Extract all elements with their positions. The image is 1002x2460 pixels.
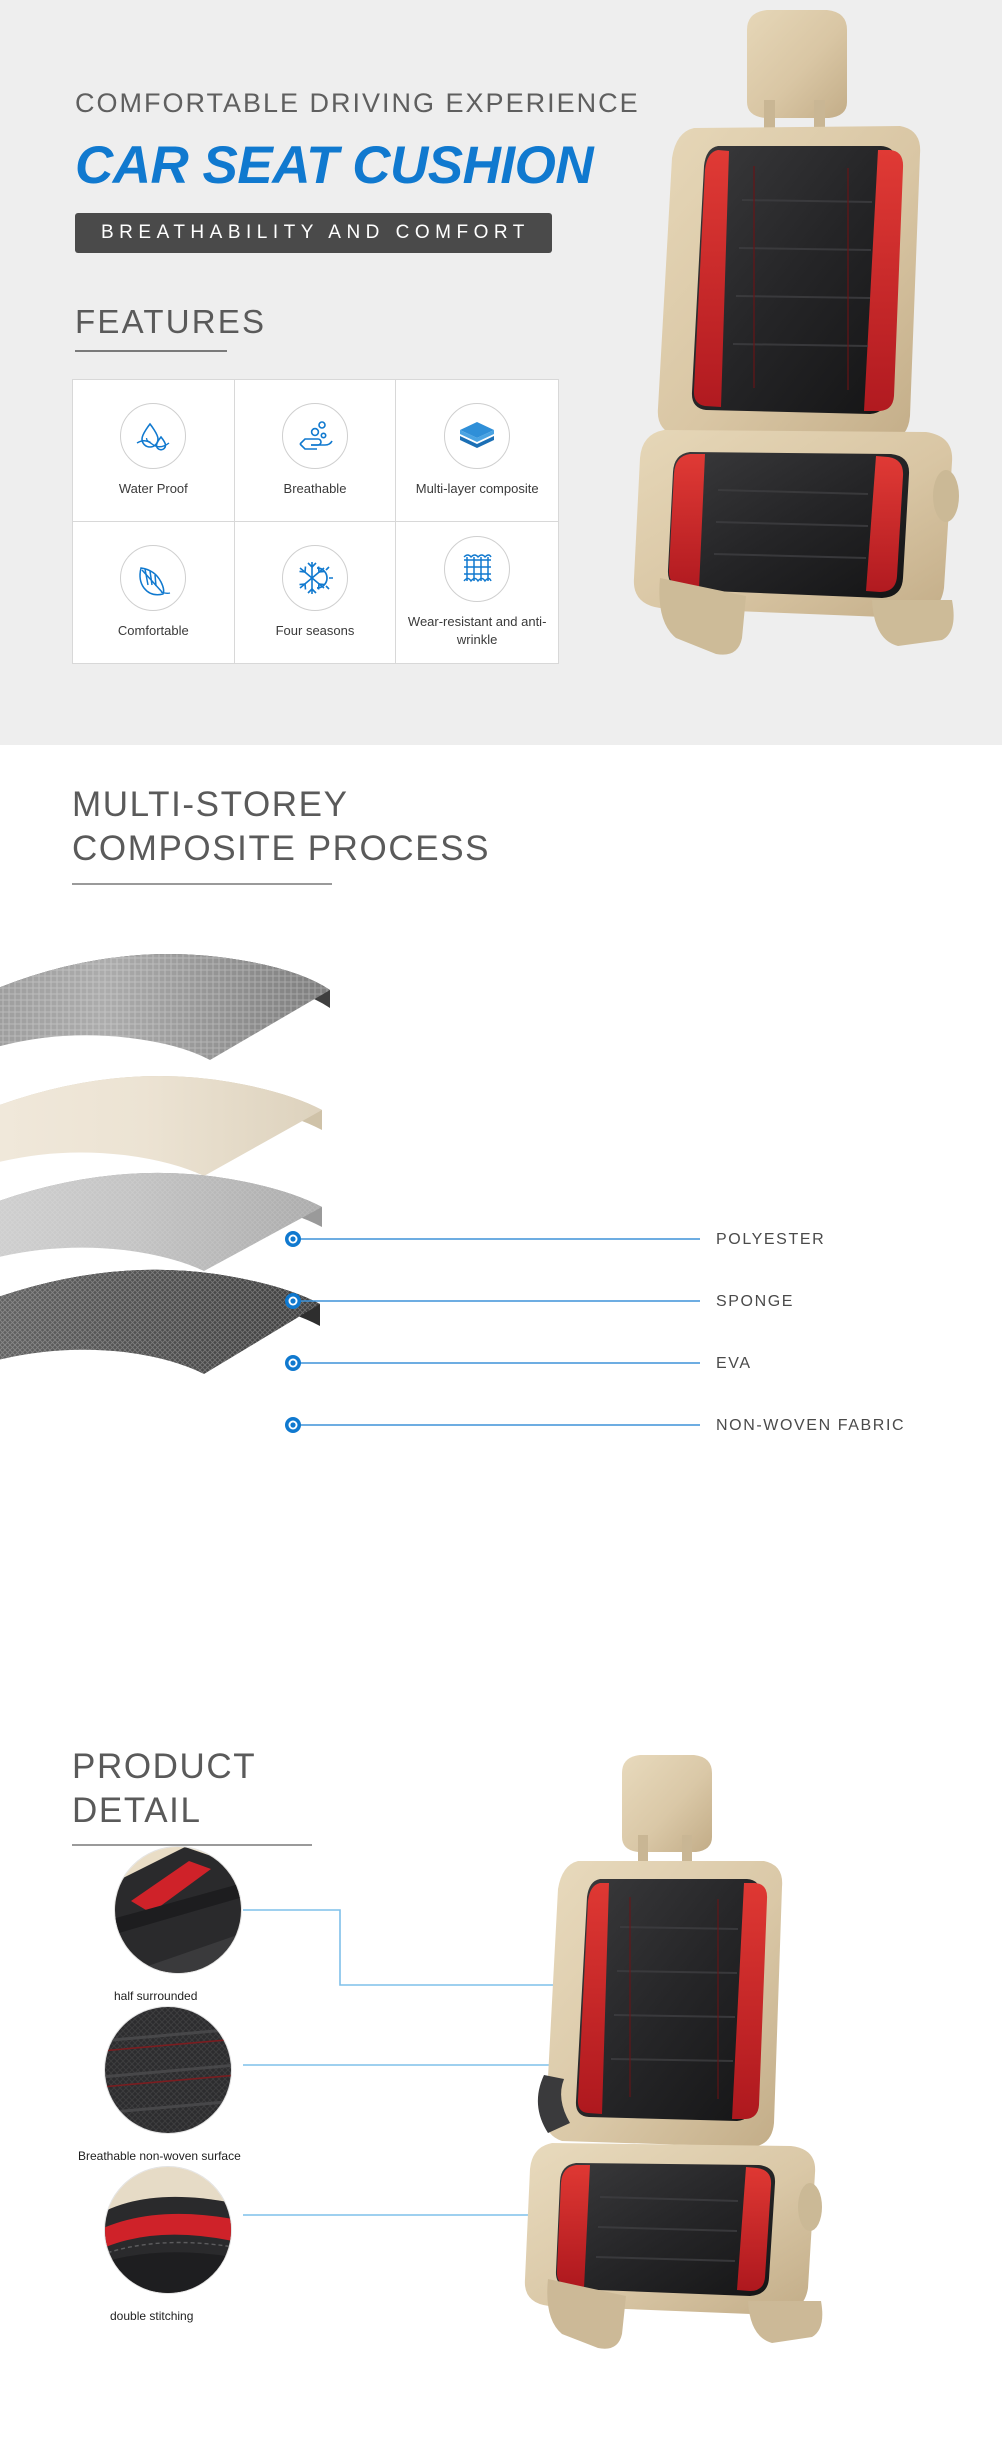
- feature-cell-comfortable[interactable]: Comfortable: [73, 522, 235, 664]
- feature-cell-breathable[interactable]: Breathable: [235, 380, 397, 522]
- layer-connectors: [0, 745, 1002, 1715]
- hero-badge: BREATHABILITY AND COMFORT: [75, 213, 552, 253]
- composite-section: MULTI-STOREY COMPOSITE PROCESS: [0, 745, 1002, 1715]
- mesh-grid-icon: [444, 536, 510, 602]
- detail-thumb-non-woven-surface[interactable]: [104, 2006, 232, 2134]
- features-heading: FEATURES: [75, 303, 266, 341]
- feather-icon: [120, 545, 186, 611]
- feature-cell-water-proof[interactable]: Water Proof: [73, 380, 235, 522]
- detail-caption-2: Breathable non-woven surface: [78, 2149, 241, 2163]
- feature-label: Four seasons: [276, 622, 355, 640]
- hero-section: COMFORTABLE DRIVING EXPERIENCE CAR SEAT …: [0, 0, 1002, 745]
- snowflake-sun-icon: [282, 545, 348, 611]
- detail-thumb-half-surrounded[interactable]: [114, 1846, 242, 1974]
- features-heading-block: FEATURES: [75, 303, 266, 352]
- feature-label: Comfortable: [118, 622, 189, 640]
- hero-kicker: COMFORTABLE DRIVING EXPERIENCE: [75, 88, 735, 119]
- hand-bubbles-icon: [282, 403, 348, 469]
- feature-cell-four-seasons[interactable]: Four seasons: [235, 522, 397, 664]
- product-detail-section: PRODUCT DETAIL: [0, 1715, 1002, 2460]
- detail-caption-3: double stitching: [110, 2309, 193, 2323]
- water-drop-icon: [120, 403, 186, 469]
- feature-cell-wear-resistant[interactable]: Wear-resistant and anti-wrinkle: [396, 522, 558, 664]
- feature-label: Wear-resistant and anti-wrinkle: [400, 613, 554, 648]
- feature-label: Multi-layer composite: [416, 480, 539, 498]
- features-heading-rule: [75, 350, 227, 352]
- layer-label-non-woven-fabric: NON-WOVEN FABRIC: [716, 1417, 905, 1435]
- hero-title: CAR SEAT CUSHION: [75, 135, 735, 196]
- layer-label-eva: EVA: [716, 1355, 752, 1373]
- feature-label: Breathable: [284, 480, 347, 498]
- layers-icon: [444, 403, 510, 469]
- product-detail-page: COMFORTABLE DRIVING EXPERIENCE CAR SEAT …: [0, 0, 1002, 2460]
- detail-seat-image: [500, 1755, 950, 2455]
- features-grid: Water Proof Breathable: [72, 379, 559, 664]
- feature-cell-multi-layer[interactable]: Multi-layer composite: [396, 380, 558, 522]
- feature-label: Water Proof: [119, 480, 188, 498]
- layer-label-polyester: POLYESTER: [716, 1231, 825, 1249]
- detail-thumb-double-stitching[interactable]: [104, 2166, 232, 2294]
- layer-label-sponge: SPONGE: [716, 1293, 794, 1311]
- hero-text-block: COMFORTABLE DRIVING EXPERIENCE CAR SEAT …: [75, 88, 735, 253]
- detail-caption-1: half surrounded: [114, 1989, 197, 2003]
